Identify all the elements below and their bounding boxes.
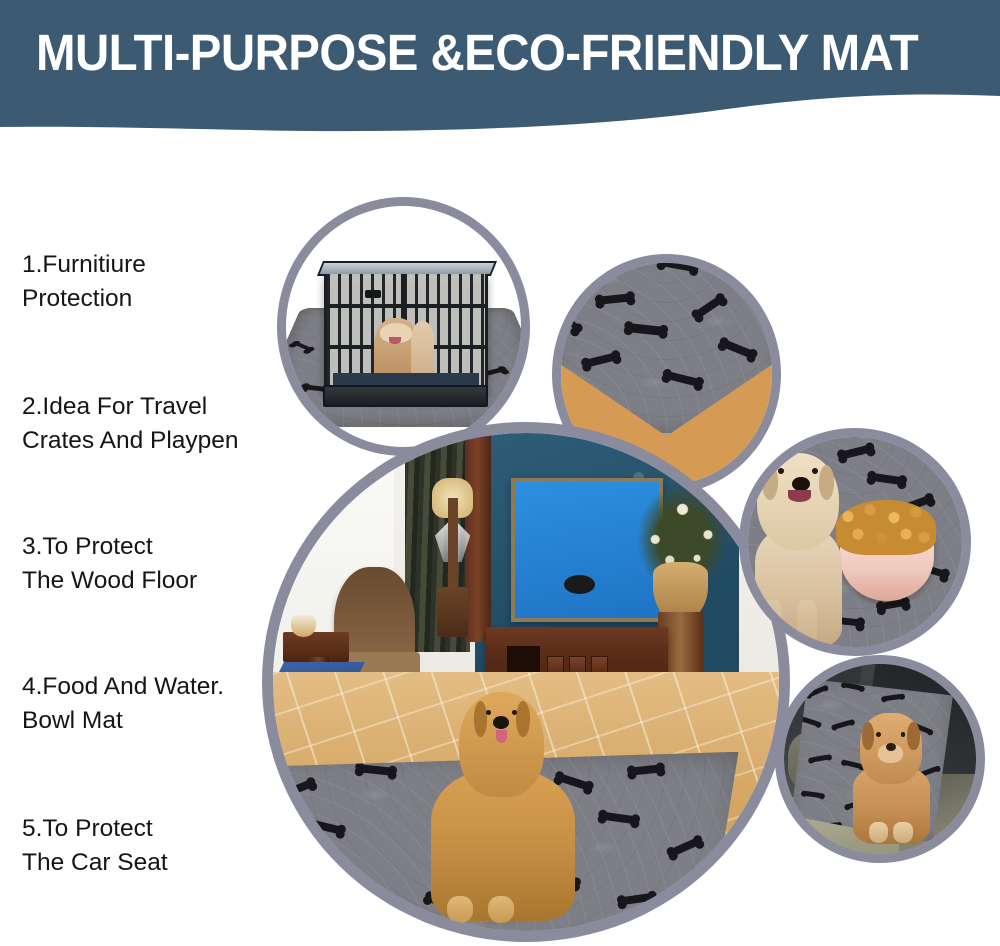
crate-latch <box>365 290 381 298</box>
photo-bubble-food-bowl: Golden retriever beside a pink bowl fill… <box>739 428 971 656</box>
lamp-stem <box>448 498 458 598</box>
photo-bubble-crate: Golden retriever inside a black metal tr… <box>277 197 530 456</box>
feature-list: 1.Furnitiure Protection 2.Idea For Trave… <box>0 150 280 940</box>
dog-crate <box>324 271 489 392</box>
feature-item-furniture-protection: 1.Furnitiure Protection <box>22 248 278 316</box>
food-bowl-dog <box>748 450 855 643</box>
car-seat-scene <box>784 664 976 854</box>
feature-item-travel-crates: 2.Idea For Travel Crates And Playpen <box>22 390 278 458</box>
page-title: MULTI-PURPOSE &ECO-FRIENDLY MAT <box>36 26 910 80</box>
infographic-page: MULTI-PURPOSE &ECO-FRIENDLY MAT 1.Furnit… <box>0 0 1000 946</box>
photo-bubble-living-room: Golden retriever lying on the grey bone-… <box>262 422 790 942</box>
living-room-dog <box>425 692 582 921</box>
tea-cup <box>291 615 316 637</box>
photo-bubble-car-seat: Dogue de Bordeaux puppy sitting on the g… <box>775 655 985 863</box>
feature-item-bowl-mat: 4.Food And Water. Bowl Mat <box>22 670 278 738</box>
living-room-scene <box>273 433 779 931</box>
crate-base <box>323 385 488 407</box>
crate-dog-second <box>411 321 435 378</box>
header-banner: MULTI-PURPOSE &ECO-FRIENDLY MAT <box>0 0 1000 146</box>
feature-item-wood-floor: 3.To Protect The Wood Floor <box>22 530 278 598</box>
lamp-base <box>437 587 467 637</box>
car-seat-puppy <box>847 713 935 838</box>
food-bowl-scene <box>748 437 962 647</box>
feature-item-car-seat: 5.To Protect The Car Seat <box>22 812 278 880</box>
crate-floor-pan <box>333 373 479 386</box>
crate-scene <box>286 206 521 447</box>
